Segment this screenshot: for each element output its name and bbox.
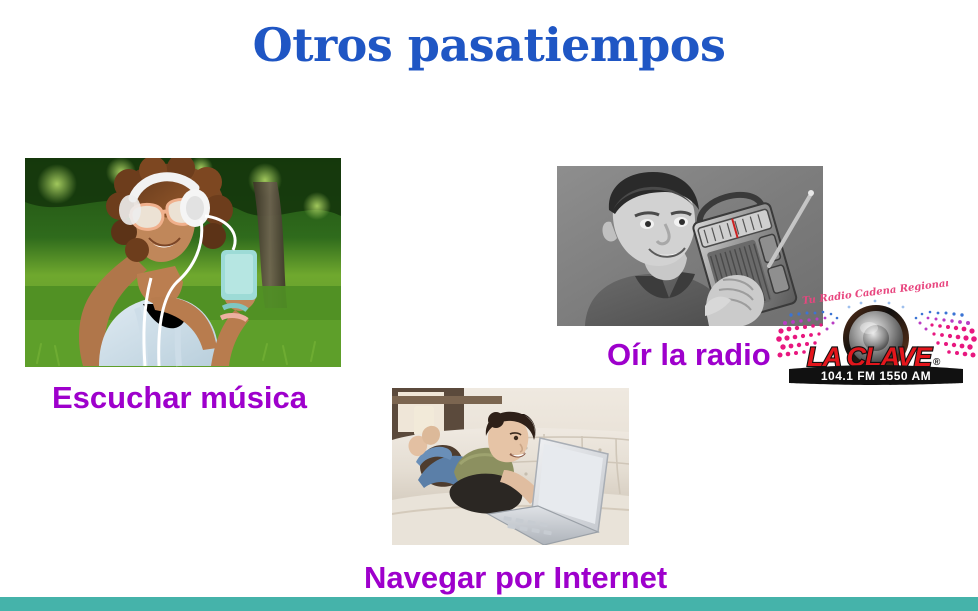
la-clave-logo-graphic: Tu Radio Cadena Regional LA CLAVE ® 104.… <box>775 281 978 387</box>
logo-frequencies-text: 104.1 FM 1550 AM <box>821 369 931 383</box>
logo-tagline-text: Tu Radio Cadena Regional <box>802 281 950 307</box>
caption-escuchar-musica: Escuchar música <box>52 380 307 416</box>
slide-canvas: Otros pasatiempos <box>0 0 978 611</box>
svg-text:®: ® <box>933 357 941 368</box>
caption-oir-la-radio: Oír la radio <box>607 337 771 373</box>
photo-escuchar-musica <box>25 158 341 367</box>
caption-navegar-por-internet: Navegar por Internet <box>364 560 667 596</box>
photo-navegar-por-internet <box>392 388 629 545</box>
la-clave-radio-logo: Tu Radio Cadena Regional LA CLAVE ® 104.… <box>775 281 978 387</box>
bottom-accent-bar <box>0 597 978 611</box>
music-photo-illustration <box>25 158 341 367</box>
page-title: Otros pasatiempos <box>0 18 978 72</box>
internet-photo-illustration <box>392 388 629 545</box>
